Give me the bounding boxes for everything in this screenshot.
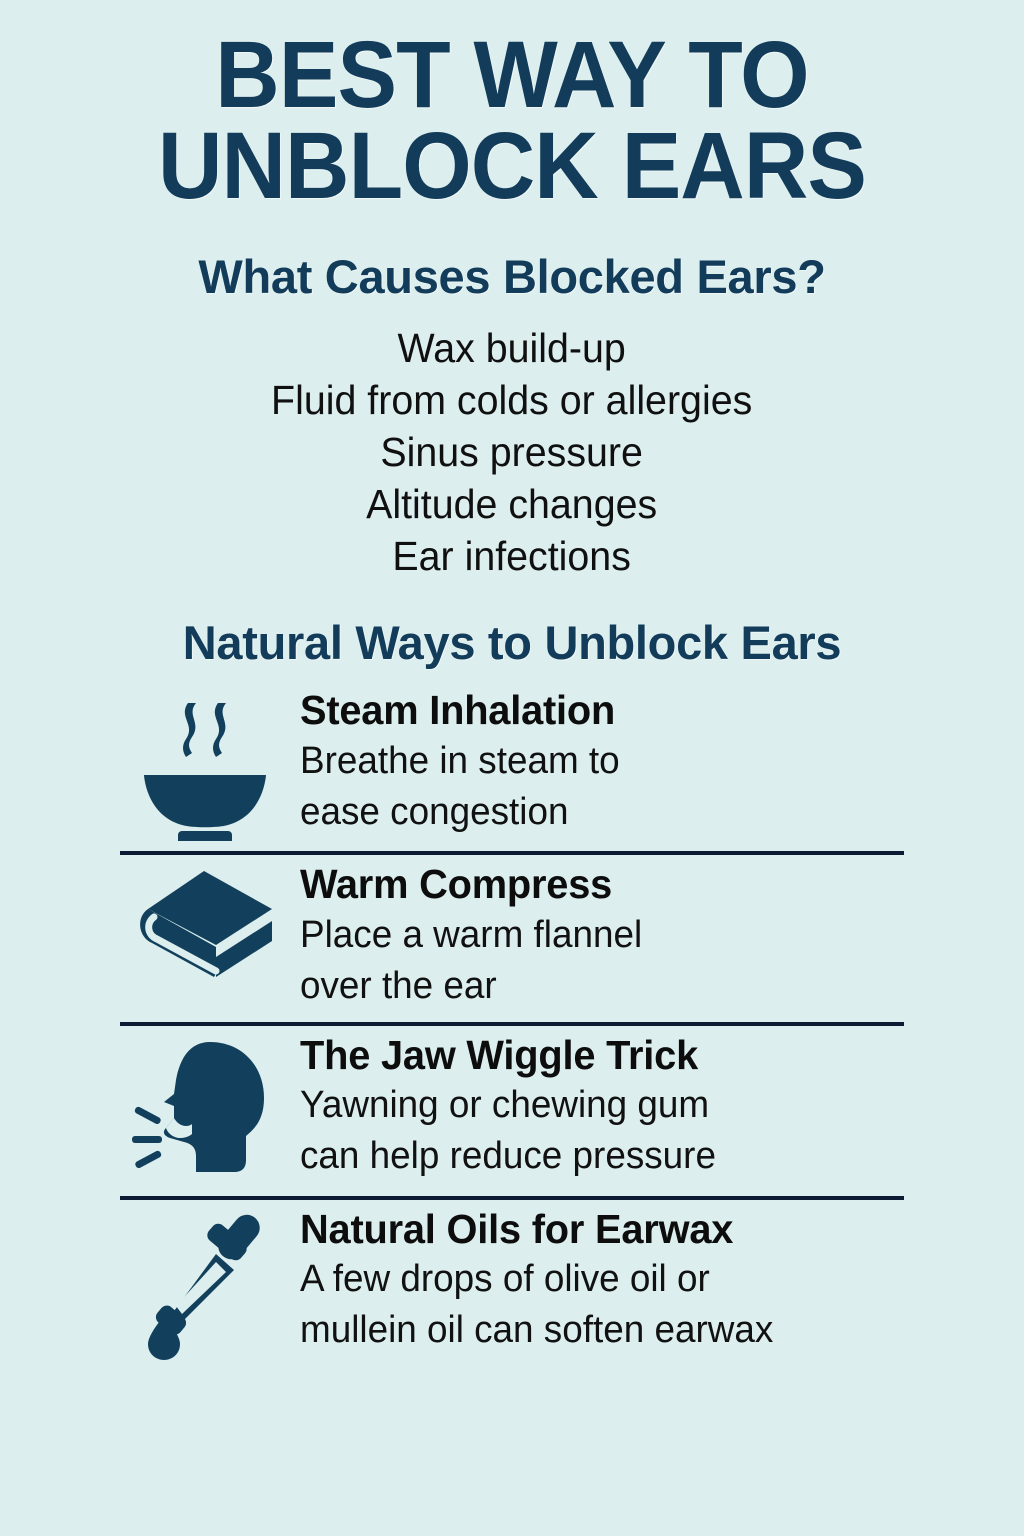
head-profile-icon	[120, 1032, 290, 1186]
steaming-bowl-icon	[120, 687, 290, 841]
cause-item: Sinus pressure	[271, 426, 752, 478]
remedy-description-line: can help reduce pressure	[300, 1131, 886, 1182]
dropper-icon	[120, 1206, 290, 1360]
list-item: Warm Compress Place a warm flannel over …	[120, 855, 904, 1022]
list-item-body: Steam Inhalation Breathe in steam to eas…	[290, 687, 904, 838]
page-title-line-2: UNBLOCK EARS	[89, 121, 935, 212]
list-item-body: Natural Oils for Earwax A few drops of o…	[290, 1206, 904, 1357]
remedy-description-line: mullein oil can soften earwax	[300, 1305, 886, 1356]
remedy-description-line: A few drops of olive oil or	[300, 1254, 886, 1305]
remedies-section-heading: Natural Ways to Unblock Ears	[183, 618, 841, 667]
remedy-description-line: ease congestion	[300, 787, 886, 838]
remedy-description: Place a warm flannel over the ear	[300, 910, 886, 1012]
remedy-title: Natural Oils for Earwax	[300, 1206, 886, 1254]
page-title-line-1: BEST WAY TO	[89, 30, 935, 121]
list-item-body: The Jaw Wiggle Trick Yawning or chewing …	[290, 1032, 904, 1183]
causes-section-heading: What Causes Blocked Ears?	[198, 252, 825, 301]
remedy-description-line: over the ear	[300, 961, 886, 1012]
infographic-poster: BEST WAY TO UNBLOCK EARS What Causes Blo…	[0, 0, 1024, 1536]
page-title: BEST WAY TO UNBLOCK EARS	[89, 30, 935, 212]
list-item: Natural Oils for Earwax A few drops of o…	[120, 1200, 904, 1370]
cause-item: Fluid from colds or allergies	[271, 374, 752, 426]
list-item: Steam Inhalation Breathe in steam to eas…	[120, 681, 904, 851]
cause-item: Altitude changes	[271, 478, 752, 530]
remedy-description: Breathe in steam to ease congestion	[300, 736, 886, 838]
remedy-description: Yawning or chewing gum can help reduce p…	[300, 1080, 886, 1182]
cause-item: Ear infections	[271, 530, 752, 582]
remedy-title: The Jaw Wiggle Trick	[300, 1032, 886, 1080]
remedy-description-line: Yawning or chewing gum	[300, 1080, 886, 1131]
causes-list: Wax build-up Fluid from colds or allergi…	[271, 322, 752, 582]
list-item: The Jaw Wiggle Trick Yawning or chewing …	[120, 1026, 904, 1196]
remedy-description-line: Place a warm flannel	[300, 910, 886, 961]
remedy-title: Steam Inhalation	[300, 687, 886, 735]
list-item-body: Warm Compress Place a warm flannel over …	[290, 861, 904, 1012]
folded-towel-icon	[120, 861, 290, 989]
remedy-description: A few drops of olive oil or mullein oil …	[300, 1254, 886, 1356]
cause-item: Wax build-up	[271, 322, 752, 374]
remedy-description-line: Breathe in steam to	[300, 736, 886, 787]
remedies-list: Steam Inhalation Breathe in steam to eas…	[120, 681, 904, 1370]
remedy-title: Warm Compress	[300, 861, 886, 909]
